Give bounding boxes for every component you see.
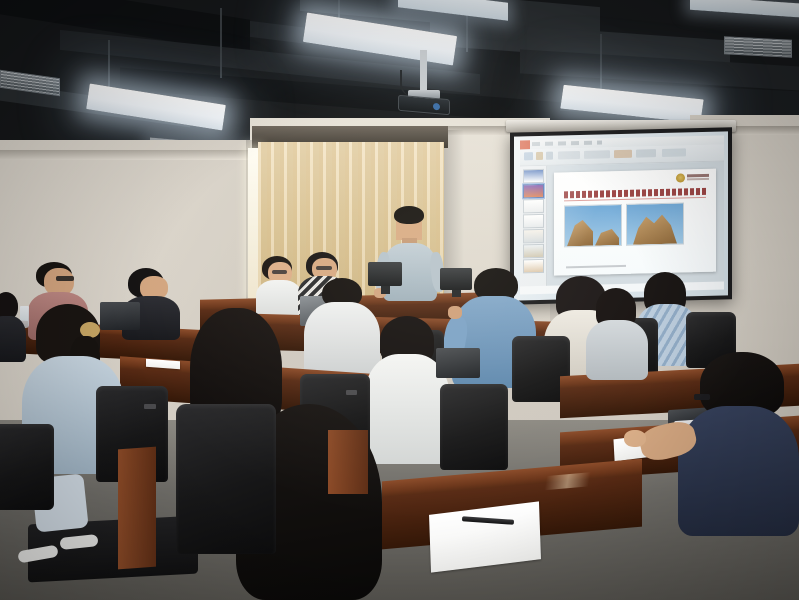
- slide-thumbnail[interactable]: [523, 199, 544, 214]
- projection-screen[interactable]: [510, 127, 732, 304]
- slide-thumbnail[interactable]: [523, 229, 544, 244]
- wall-ceiling-edge: [0, 150, 270, 160]
- slide-thumbnail[interactable]: [523, 169, 544, 184]
- chair-foreground[interactable]: [176, 404, 276, 554]
- projector-body: [398, 95, 450, 116]
- desk-leg: [328, 430, 368, 494]
- chair[interactable]: [0, 424, 54, 510]
- person-hand: [448, 306, 462, 319]
- current-slide: [554, 169, 716, 276]
- ribbon-icon[interactable]: [636, 149, 656, 157]
- light-hanger: [600, 34, 602, 94]
- glasses-icon: [56, 276, 74, 281]
- monitor-stand: [381, 286, 390, 294]
- person-hand: [624, 430, 646, 447]
- desk-leg: [118, 447, 156, 570]
- ribbon-icon[interactable]: [662, 148, 686, 157]
- ribbon-icon[interactable]: [584, 150, 610, 159]
- laptop-1: [100, 302, 140, 330]
- powerpoint-file-tab[interactable]: [520, 140, 530, 149]
- rock-outcrop-photo-right: [626, 202, 684, 245]
- ribbon-icon[interactable]: [614, 150, 632, 158]
- ribbon-icon[interactable]: [524, 152, 533, 160]
- chair[interactable]: [440, 384, 508, 470]
- slide-thumbnail[interactable]: [523, 214, 544, 229]
- powerpoint-window[interactable]: [520, 135, 724, 294]
- chair-logo: [346, 390, 357, 395]
- laptop-3: [436, 348, 480, 378]
- conference-room-photo: Conference room seminar presentation uni…: [0, 0, 799, 600]
- presenter-hair: [394, 206, 424, 224]
- chair-logo: [144, 404, 156, 409]
- person-torso: [0, 316, 26, 362]
- logo-emblem-icon: [676, 173, 685, 182]
- glasses-icon: [316, 266, 332, 270]
- slide-thumbnail[interactable]: [523, 259, 544, 274]
- projection-screen-surface: [514, 131, 728, 300]
- logo-subtext-line: [687, 178, 709, 181]
- person-torso: [586, 320, 648, 380]
- ceiling-light-5: [690, 0, 799, 18]
- slide-caption-line: [566, 265, 626, 268]
- projector-pole: [420, 50, 427, 94]
- slide-thumbnail[interactable]: [523, 244, 544, 259]
- ribbon-icon[interactable]: [546, 152, 553, 160]
- air-vent-grille: [724, 36, 792, 58]
- monitor-1: [368, 262, 402, 286]
- monitor-stand: [452, 290, 461, 297]
- light-hanger: [220, 8, 222, 78]
- person-torso-white-tee: [256, 280, 302, 318]
- monitor-2: [440, 268, 472, 290]
- slide-editing-stage[interactable]: [547, 161, 724, 285]
- ribbon-icon[interactable]: [536, 152, 543, 160]
- logo-text-line: [687, 174, 709, 178]
- slide-thumbnail-selected[interactable]: [523, 184, 544, 199]
- ribbon-icon[interactable]: [558, 151, 580, 160]
- person-torso-navy-tee: [678, 406, 799, 536]
- institution-logo: [676, 173, 710, 183]
- glasses-icon: [694, 394, 710, 400]
- slide-thumbnail-panel[interactable]: [520, 166, 547, 287]
- projector-lens: [433, 103, 440, 111]
- glasses-icon: [272, 270, 287, 274]
- rock-outcrop-photo-left: [564, 204, 622, 247]
- powerpoint-ribbon-tabs[interactable]: [532, 140, 602, 146]
